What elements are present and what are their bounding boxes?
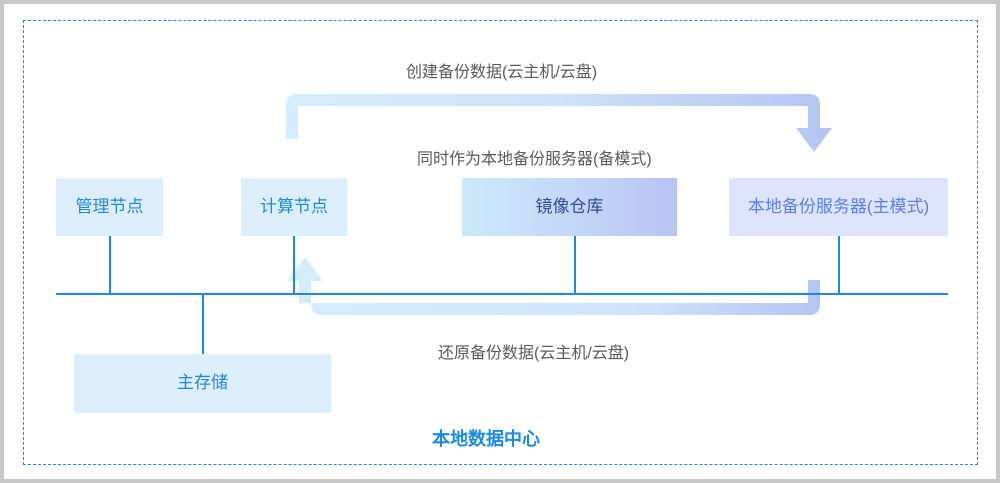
connector-repository-to-bus bbox=[574, 236, 576, 294]
node-local-backup-server[interactable]: 本地备份服务器(主模式) bbox=[729, 178, 948, 236]
node-management[interactable]: 管理节点 bbox=[56, 178, 163, 236]
node-compute[interactable]: 计算节点 bbox=[241, 178, 347, 236]
node-compute-label: 计算节点 bbox=[260, 197, 328, 217]
node-management-label: 管理节点 bbox=[76, 197, 144, 217]
flow-label-backup-server-mode: 同时作为本地备份服务器(备模式) bbox=[417, 145, 652, 169]
diagram-canvas: 创建备份数据(云主机/云盘) 同时作为本地备份服务器(备模式) 还原备份数据(云… bbox=[0, 0, 1000, 483]
connector-management-to-bus bbox=[109, 236, 111, 294]
datacenter-bus-line bbox=[56, 293, 948, 295]
region-label-local-datacenter: 本地数据中心 bbox=[432, 425, 540, 451]
flow-label-create-backup: 创建备份数据(云主机/云盘) bbox=[406, 58, 597, 82]
node-local-backup-server-label: 本地备份服务器(主模式) bbox=[748, 197, 929, 217]
node-image-repository-label: 镜像仓库 bbox=[536, 197, 604, 217]
flow-label-restore-backup: 还原备份数据(云主机/云盘) bbox=[438, 339, 629, 363]
connector-compute-to-bus bbox=[293, 236, 295, 294]
connector-bus-to-primary-storage bbox=[202, 294, 204, 354]
node-image-repository[interactable]: 镜像仓库 bbox=[462, 178, 677, 236]
connector-backup-server-to-bus bbox=[838, 236, 840, 294]
node-primary-storage-label: 主存储 bbox=[177, 373, 228, 393]
node-primary-storage[interactable]: 主存储 bbox=[74, 354, 331, 413]
